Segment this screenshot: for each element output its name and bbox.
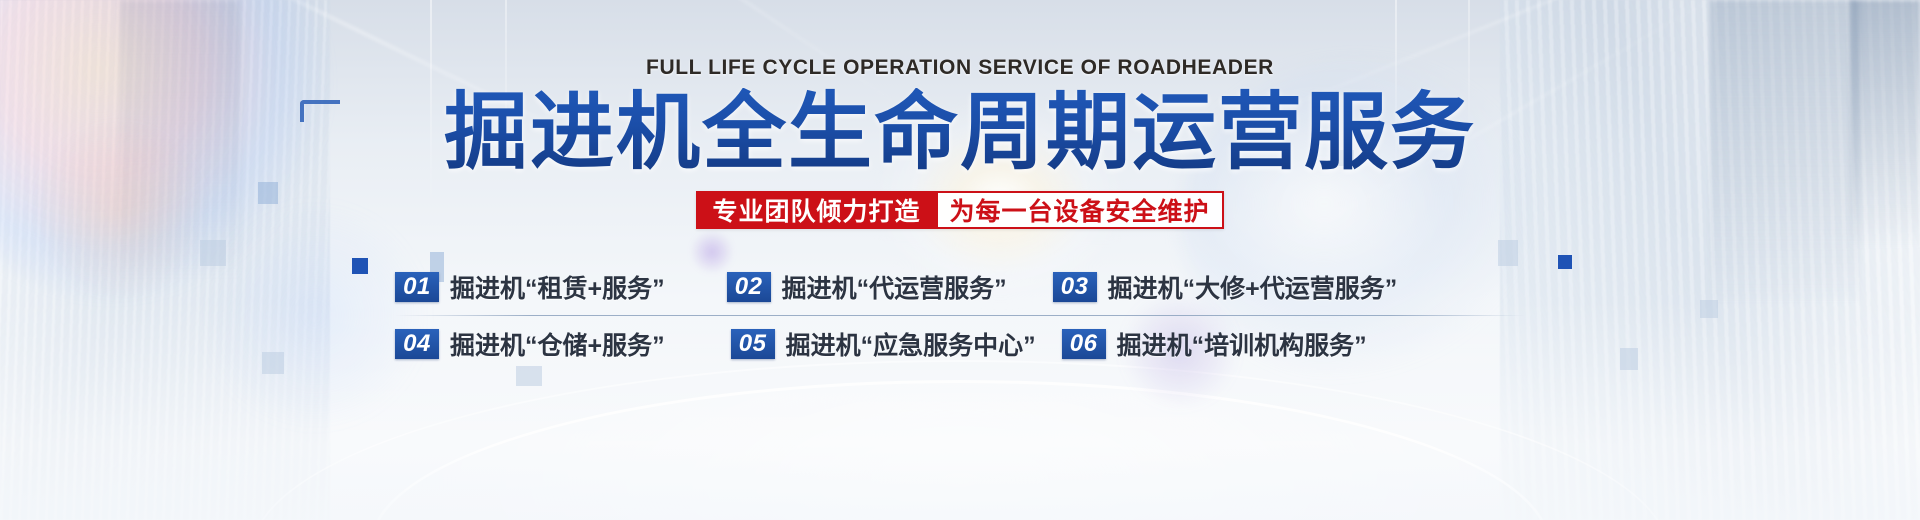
service-item-01[interactable]: 01 掘进机“租赁+服务” <box>395 269 665 305</box>
promo-banner: FULL LIFE CYCLE OPERATION SERVICE OF ROA… <box>0 0 1920 520</box>
service-label: 掘进机“大修+代运营服务” <box>1108 269 1398 305</box>
slogan-primary: 专业团队倾力打造 <box>698 193 934 227</box>
service-number-badge: 02 <box>727 272 771 302</box>
service-item-05[interactable]: 05 掘进机“应急服务中心” <box>731 326 1036 362</box>
page-title: 掘进机全生命周期运营服务 <box>444 88 1476 177</box>
service-number-badge: 03 <box>1053 272 1097 302</box>
service-number-badge: 06 <box>1062 329 1106 359</box>
service-list: 01 掘进机“租赁+服务” 02 掘进机“代运营服务” 03 掘进机“大修+代运… <box>395 259 1525 372</box>
service-label: 掘进机“代运营服务” <box>782 269 1007 305</box>
service-label: 掘进机“租赁+服务” <box>450 269 665 305</box>
service-number-badge: 01 <box>395 272 439 302</box>
service-number-badge: 04 <box>395 329 439 359</box>
slogan-bar: 专业团队倾力打造 为每一台设备安全维护 <box>696 191 1223 229</box>
service-item-02[interactable]: 02 掘进机“代运营服务” <box>727 269 1007 305</box>
service-label: 掘进机“应急服务中心” <box>786 326 1036 362</box>
service-item-03[interactable]: 03 掘进机“大修+代运营服务” <box>1053 269 1398 305</box>
service-row: 01 掘进机“租赁+服务” 02 掘进机“代运营服务” 03 掘进机“大修+代运… <box>395 259 1525 315</box>
service-number-badge: 05 <box>731 329 775 359</box>
service-label: 掘进机“仓储+服务” <box>450 326 665 362</box>
banner-content: FULL LIFE CYCLE OPERATION SERVICE OF ROA… <box>0 0 1920 520</box>
service-label: 掘进机“培训机构服务” <box>1117 326 1367 362</box>
slogan-secondary: 为每一台设备安全维护 <box>935 193 1222 227</box>
banner-eyebrow: FULL LIFE CYCLE OPERATION SERVICE OF ROA… <box>646 56 1274 80</box>
service-row: 04 掘进机“仓储+服务” 05 掘进机“应急服务中心” 06 掘进机“培训机构… <box>395 316 1525 372</box>
service-item-06[interactable]: 06 掘进机“培训机构服务” <box>1062 326 1367 362</box>
service-item-04[interactable]: 04 掘进机“仓储+服务” <box>395 326 665 362</box>
